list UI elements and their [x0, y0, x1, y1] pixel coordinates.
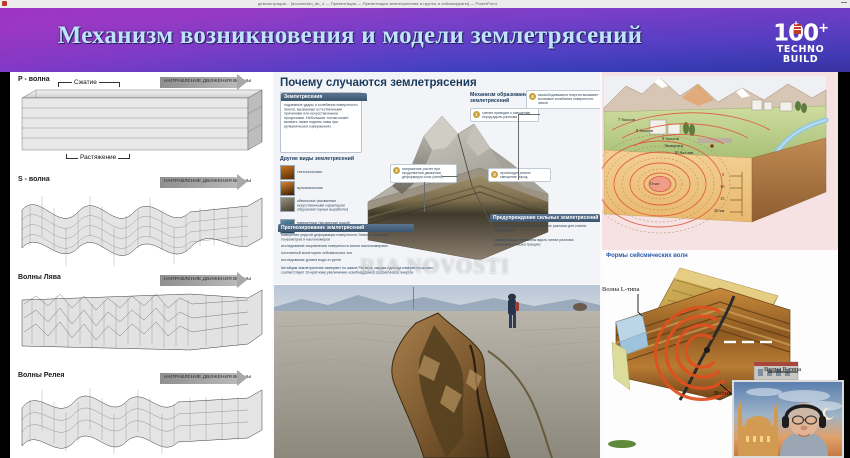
wave-type-label-P: Волна P-типа: [764, 366, 801, 373]
wave-row-p: P - волна НАПРАВЛЕНИЕ ДВИЖЕНИЯ ВОЛНЫ Сжа…: [10, 76, 272, 168]
thumb-collapse-icon: [280, 197, 295, 212]
depth-label-5: 5: [722, 172, 724, 177]
callout-text-1: трение приводит к смещению пород вдоль р…: [482, 111, 530, 119]
slide-canvas: Механизм возникновения и модели землетря…: [0, 8, 850, 458]
rayleigh-wave-mesh: [10, 372, 272, 458]
callout-badge-3: 3: [491, 171, 498, 178]
callout-badge-2: 2: [393, 167, 400, 174]
logo-build: BUILD: [773, 55, 828, 66]
slide-content-sheet: P - волна НАПРАВЛЕНИЕ ДВИЖЕНИЯ ВОЛНЫ Сжа…: [10, 72, 838, 458]
other-types-title: Другие виды землетрясений: [280, 156, 354, 162]
epicenter-diagram: 7 баллов 8 баллов 9 баллов Эпицентр 10 б…: [602, 72, 838, 250]
forecast-header: Прогнозирование землетрясений: [278, 224, 414, 232]
thumb-tectonic-icon: [280, 165, 295, 180]
other-type-label-1: вулканические: [297, 186, 323, 190]
thumb-volcanic-icon: [280, 181, 295, 196]
callout-text-3: происходит резкое смещение пород: [500, 171, 531, 179]
other-type-label-2: обвальные (вызванные искусственными хара…: [297, 199, 355, 212]
depth-label-20km: 20 км: [714, 208, 724, 213]
leader-line-4b: [518, 114, 519, 180]
forecast-item-0: измерение упругой деформации поверхности…: [281, 233, 409, 242]
epicenter-block-art: [602, 72, 838, 250]
window-titlebar: демонстрация... [documento_de_4 — Презен…: [0, 0, 850, 8]
wave-row-love: Волны Лява НАПРАВЛЕНИЕ ДВИЖЕНИЯ ВОЛНЫ: [10, 274, 272, 366]
warning-header: Предупреждение сильных землетрясений: [490, 214, 600, 222]
leader-line-4a: [518, 114, 540, 115]
slide-banner: Механизм возникновения и модели землетря…: [0, 8, 850, 72]
seismic-wave-diagrams: P - волна НАПРАВЛЕНИЕ ДВИЖЕНИЯ ВОЛНЫ Сжа…: [10, 72, 272, 458]
presenter-webcam[interactable]: [732, 380, 844, 458]
p-wave-mesh: [10, 76, 272, 168]
left-gutter: [0, 72, 10, 458]
epi-label-10: 10 баллов: [674, 150, 693, 155]
window-title: демонстрация... [documento_de_4 — Презен…: [258, 1, 497, 8]
forecast-note: Китайцам землетрясение измеряют по шкале…: [281, 266, 433, 275]
forecast-item-3: исследование уровня воды в грунте: [281, 258, 409, 262]
screen: демонстрация... [documento_de_4 — Презен…: [0, 0, 850, 458]
warning-item-0: провокация мелких толчков в зоне разлома…: [494, 224, 592, 233]
logo-plus: +: [818, 21, 828, 36]
earthquake-fissure-photo: [274, 285, 600, 458]
wave-types-title: Формы сейсмических волн: [606, 253, 688, 259]
depth-label-15: 15: [720, 196, 724, 201]
logo-100plus-technobuild: 100+ TECHNO BUILD: [773, 18, 828, 66]
definition-box: Землетрясения подземные удары и колебани…: [280, 92, 362, 153]
epi-label-9: 9 баллов: [662, 136, 679, 141]
info-title: Почему случаются землетрясения: [280, 77, 477, 89]
wave-row-s: S - волна НАПРАВЛЕНИЕ ДВИЖЕНИЯ ВОЛНЫ: [10, 176, 272, 268]
love-wave-mesh: [10, 274, 272, 366]
warning-item-1: закачка воды в скважины вдоль линии разл…: [494, 238, 592, 247]
callout-badge-4: 4: [529, 93, 536, 100]
wave-type-label-L: Волна L-типа: [602, 286, 640, 293]
s-wave-mesh: [10, 176, 272, 268]
wave-row-rayleigh: Волны Релея НАПРАВЛЕНИЕ ДВИЖЕНИЯ ВОЛНЫ: [10, 372, 272, 458]
depth-label-10: 10: [720, 184, 724, 189]
callout-text-2: напряжение растет при продолжении движен…: [402, 167, 443, 179]
forecast-item-2: постоянный мониторинг сейсмических зон: [281, 251, 409, 255]
leader-line-2: [442, 176, 458, 177]
fissure-photo-art: [274, 285, 600, 458]
minimize-icon[interactable]: [841, 2, 847, 3]
crane-icon: [791, 21, 804, 36]
powerpoint-icon: [2, 1, 7, 6]
epi-label-7: 7 баллов: [618, 117, 635, 122]
other-type-label-0: тектонические: [297, 170, 322, 174]
infographic-why-earthquakes: Почему случаются землетрясения: [274, 72, 600, 284]
mechanism-callout-3: 3 происходит резкое смещение пород: [488, 168, 551, 182]
definition-box-header: Землетрясения: [281, 93, 367, 101]
mechanism-callout-1: 1 трение приводит к смещению пород вдоль…: [470, 108, 539, 122]
epi-label-epicenter: Эпицентр: [664, 143, 683, 148]
epi-label-8: 8 баллов: [636, 128, 653, 133]
leader-line-2b: [424, 182, 425, 212]
webcam-video-frame: [734, 382, 842, 456]
forecast-item-1: исследование искривления поверхности зем…: [281, 244, 409, 248]
label-extension: Растяжение: [78, 154, 118, 161]
mechanism-callout-4: 4 высвободившаяся энергия вызывает волно…: [526, 90, 600, 109]
callout-badge-1: 1: [473, 111, 480, 118]
epi-label-focus: Очаг: [650, 181, 660, 186]
page-title: Механизм возникновения и модели землетря…: [0, 22, 700, 50]
mechanism-callout-2: 2 напряжение растет при продолжении движ…: [390, 164, 457, 183]
callout-text-4: высвободившаяся энергия вызывает волновы…: [538, 93, 598, 105]
definition-box-text: подземные удары и колебания поверхности …: [284, 103, 358, 129]
